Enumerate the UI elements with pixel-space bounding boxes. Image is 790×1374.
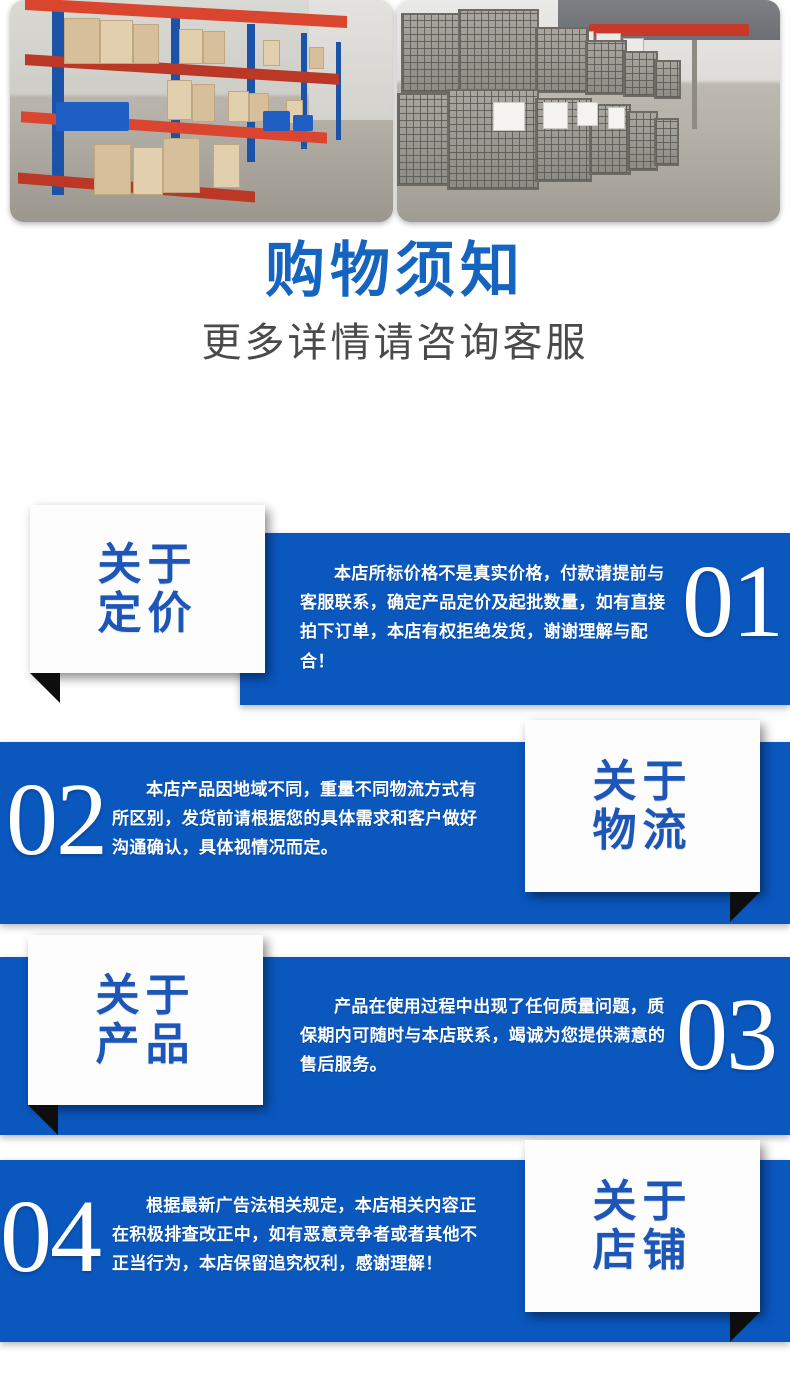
section-04-number: 04	[0, 1185, 100, 1289]
page-subtitle: 更多详情请咨询客服	[0, 317, 790, 369]
section-02-notch	[730, 892, 760, 922]
section-03-card: 关于产品	[28, 935, 263, 1105]
section-04: 关于店铺 04 根据最新广告法相关规定，本店相关内容正在积极排查改正中，如有恶意…	[0, 1140, 790, 1355]
heading-block: 购物须知 更多详情请咨询客服	[0, 236, 790, 369]
section-01-notch	[30, 673, 60, 703]
section-04-body: 根据最新广告法相关规定，本店相关内容正在积极排查改正中，如有恶意竞争者或者其他不…	[112, 1192, 482, 1280]
section-02-number: 02	[6, 768, 106, 872]
shopping-notice-page: 购物须知 更多详情请咨询客服 关于定价 01 本店所标价格不是真实价格，付款请提…	[0, 0, 790, 1374]
section-03: 关于产品 03 产品在使用过程中出现了任何质量问题，质保期内可随时与本店联系，竭…	[0, 935, 790, 1140]
section-02-card: 关于物流	[525, 720, 760, 892]
section-03-card-text: 关于产品	[96, 971, 196, 1070]
section-04-notch	[730, 1312, 760, 1342]
section-01: 关于定价 01 本店所标价格不是真实价格，付款请提前与客服联系，确定产品定价及起…	[0, 505, 790, 710]
section-01-body: 本店所标价格不是真实价格，付款请提前与客服联系，确定产品定价及起批数量，如有直接…	[300, 560, 670, 677]
section-03-body: 产品在使用过程中出现了任何质量问题，质保期内可随时与本店联系，竭诚为您提供满意的…	[300, 993, 670, 1081]
photo-row	[0, 0, 790, 222]
section-01-card: 关于定价	[30, 505, 265, 673]
section-03-notch	[28, 1105, 58, 1135]
section-02-card-text: 关于物流	[593, 757, 693, 856]
section-04-card-text: 关于店铺	[593, 1177, 693, 1276]
section-04-card: 关于店铺	[525, 1140, 760, 1312]
section-02: 关于物流 02 本店产品因地域不同，重量不同物流方式有所区别，发货前请根据您的具…	[0, 720, 790, 930]
section-03-number: 03	[676, 983, 776, 1087]
section-01-card-text: 关于定价	[98, 540, 198, 639]
wire-cage-storage-photo	[397, 0, 780, 222]
warehouse-shelving-photo	[10, 0, 393, 222]
section-02-body: 本店产品因地域不同，重量不同物流方式有所区别，发货前请根据您的具体需求和客户做好…	[112, 776, 482, 864]
section-01-number: 01	[682, 550, 782, 654]
page-title: 购物须知	[0, 236, 790, 307]
